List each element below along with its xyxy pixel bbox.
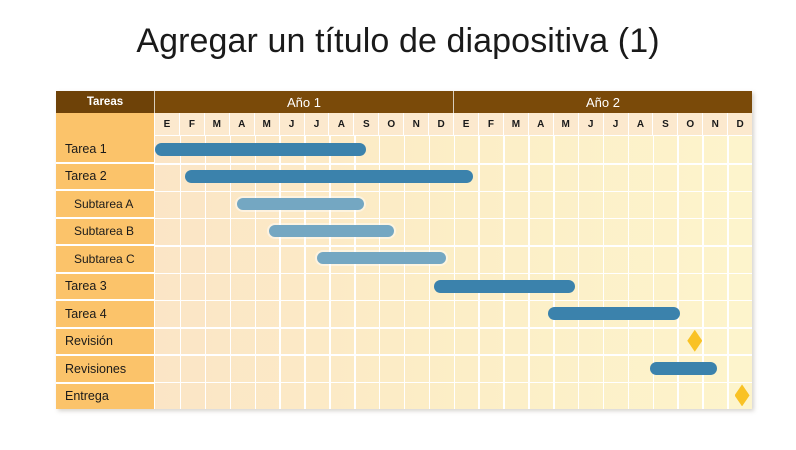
task-label-row-6[interactable]: Tarea 3 (56, 274, 155, 302)
task-label-column: Tarea 1Tarea 2Subtarea ASubtarea BSubtar… (56, 136, 155, 409)
month-cell-4: A (230, 113, 255, 136)
month-cell-17: M (554, 113, 579, 136)
horizontal-gridline (155, 191, 752, 193)
month-cell-23: N (703, 113, 728, 136)
gantt-bar-1[interactable] (155, 143, 366, 156)
month-cell-8: A (329, 113, 354, 136)
task-label-row-2[interactable]: Tarea 2 (56, 164, 155, 192)
month-cell-2: F (180, 113, 205, 136)
horizontal-gridline (155, 218, 752, 220)
month-cell-5: M (255, 113, 280, 136)
gantt-bar-4[interactable] (269, 225, 393, 237)
task-label-row-1[interactable]: Tarea 1 (56, 136, 155, 164)
month-cell-14: F (479, 113, 504, 136)
gantt-body: Tarea 1Tarea 2Subtarea ASubtarea BSubtar… (56, 136, 752, 409)
horizontal-gridline (155, 354, 752, 356)
month-cell-22: O (678, 113, 703, 136)
month-cell-13: E (454, 113, 479, 136)
year-header-2: Año 2 (454, 91, 752, 113)
month-cell-21: S (653, 113, 678, 136)
horizontal-gridline (155, 245, 752, 247)
task-label-row-10[interactable]: Entrega (56, 384, 155, 410)
task-label-row-4[interactable]: Subtarea B (56, 219, 155, 247)
horizontal-gridline (155, 300, 752, 302)
horizontal-gridline (155, 327, 752, 329)
gantt-bar-5[interactable] (317, 252, 446, 264)
year-header-row: Tareas Año 1 Año 2 (56, 91, 752, 113)
task-label-row-3[interactable]: Subtarea A (56, 191, 155, 219)
gantt-plot-area (155, 136, 752, 409)
milestone-marker-10[interactable] (735, 384, 750, 406)
header-corner-spacer (56, 113, 155, 136)
month-label-cells: EFMAMJJASONDEFMAMJJASOND (155, 113, 752, 136)
gantt-bar-9[interactable] (650, 362, 717, 375)
milestone-marker-8[interactable] (687, 330, 702, 352)
month-cell-24: D (728, 113, 752, 136)
month-cell-9: S (354, 113, 379, 136)
gantt-bar-3[interactable] (237, 198, 364, 210)
month-cell-18: J (579, 113, 604, 136)
task-label-row-7[interactable]: Tarea 4 (56, 301, 155, 329)
tasks-column-header: Tareas (56, 91, 155, 113)
month-cell-11: N (404, 113, 429, 136)
gantt-bar-7[interactable] (548, 307, 680, 320)
task-label-row-8[interactable]: Revisión (56, 329, 155, 357)
task-label-row-9[interactable]: Revisiones (56, 356, 155, 384)
month-cell-12: D (429, 113, 454, 136)
page-title: Agregar un título de diapositiva (1) (0, 22, 796, 61)
month-cell-1: E (155, 113, 180, 136)
month-cell-16: A (529, 113, 554, 136)
gantt-bar-6[interactable] (434, 280, 576, 293)
horizontal-gridline (155, 163, 752, 165)
month-cell-6: J (280, 113, 305, 136)
month-cell-19: J (604, 113, 629, 136)
horizontal-gridline (155, 382, 752, 384)
gantt-chart: Tareas Año 1 Año 2 EFMAMJJASONDEFMAMJJAS… (56, 91, 752, 409)
month-cell-3: M (205, 113, 230, 136)
month-cell-20: A (629, 113, 654, 136)
month-cell-10: O (379, 113, 404, 136)
month-cell-7: J (305, 113, 330, 136)
gantt-bar-2[interactable] (185, 170, 474, 183)
month-header-row: EFMAMJJASONDEFMAMJJASOND (56, 113, 752, 136)
horizontal-gridline (155, 273, 752, 275)
month-cell-15: M (504, 113, 529, 136)
task-label-row-5[interactable]: Subtarea C (56, 246, 155, 274)
year-header-1: Año 1 (155, 91, 454, 113)
